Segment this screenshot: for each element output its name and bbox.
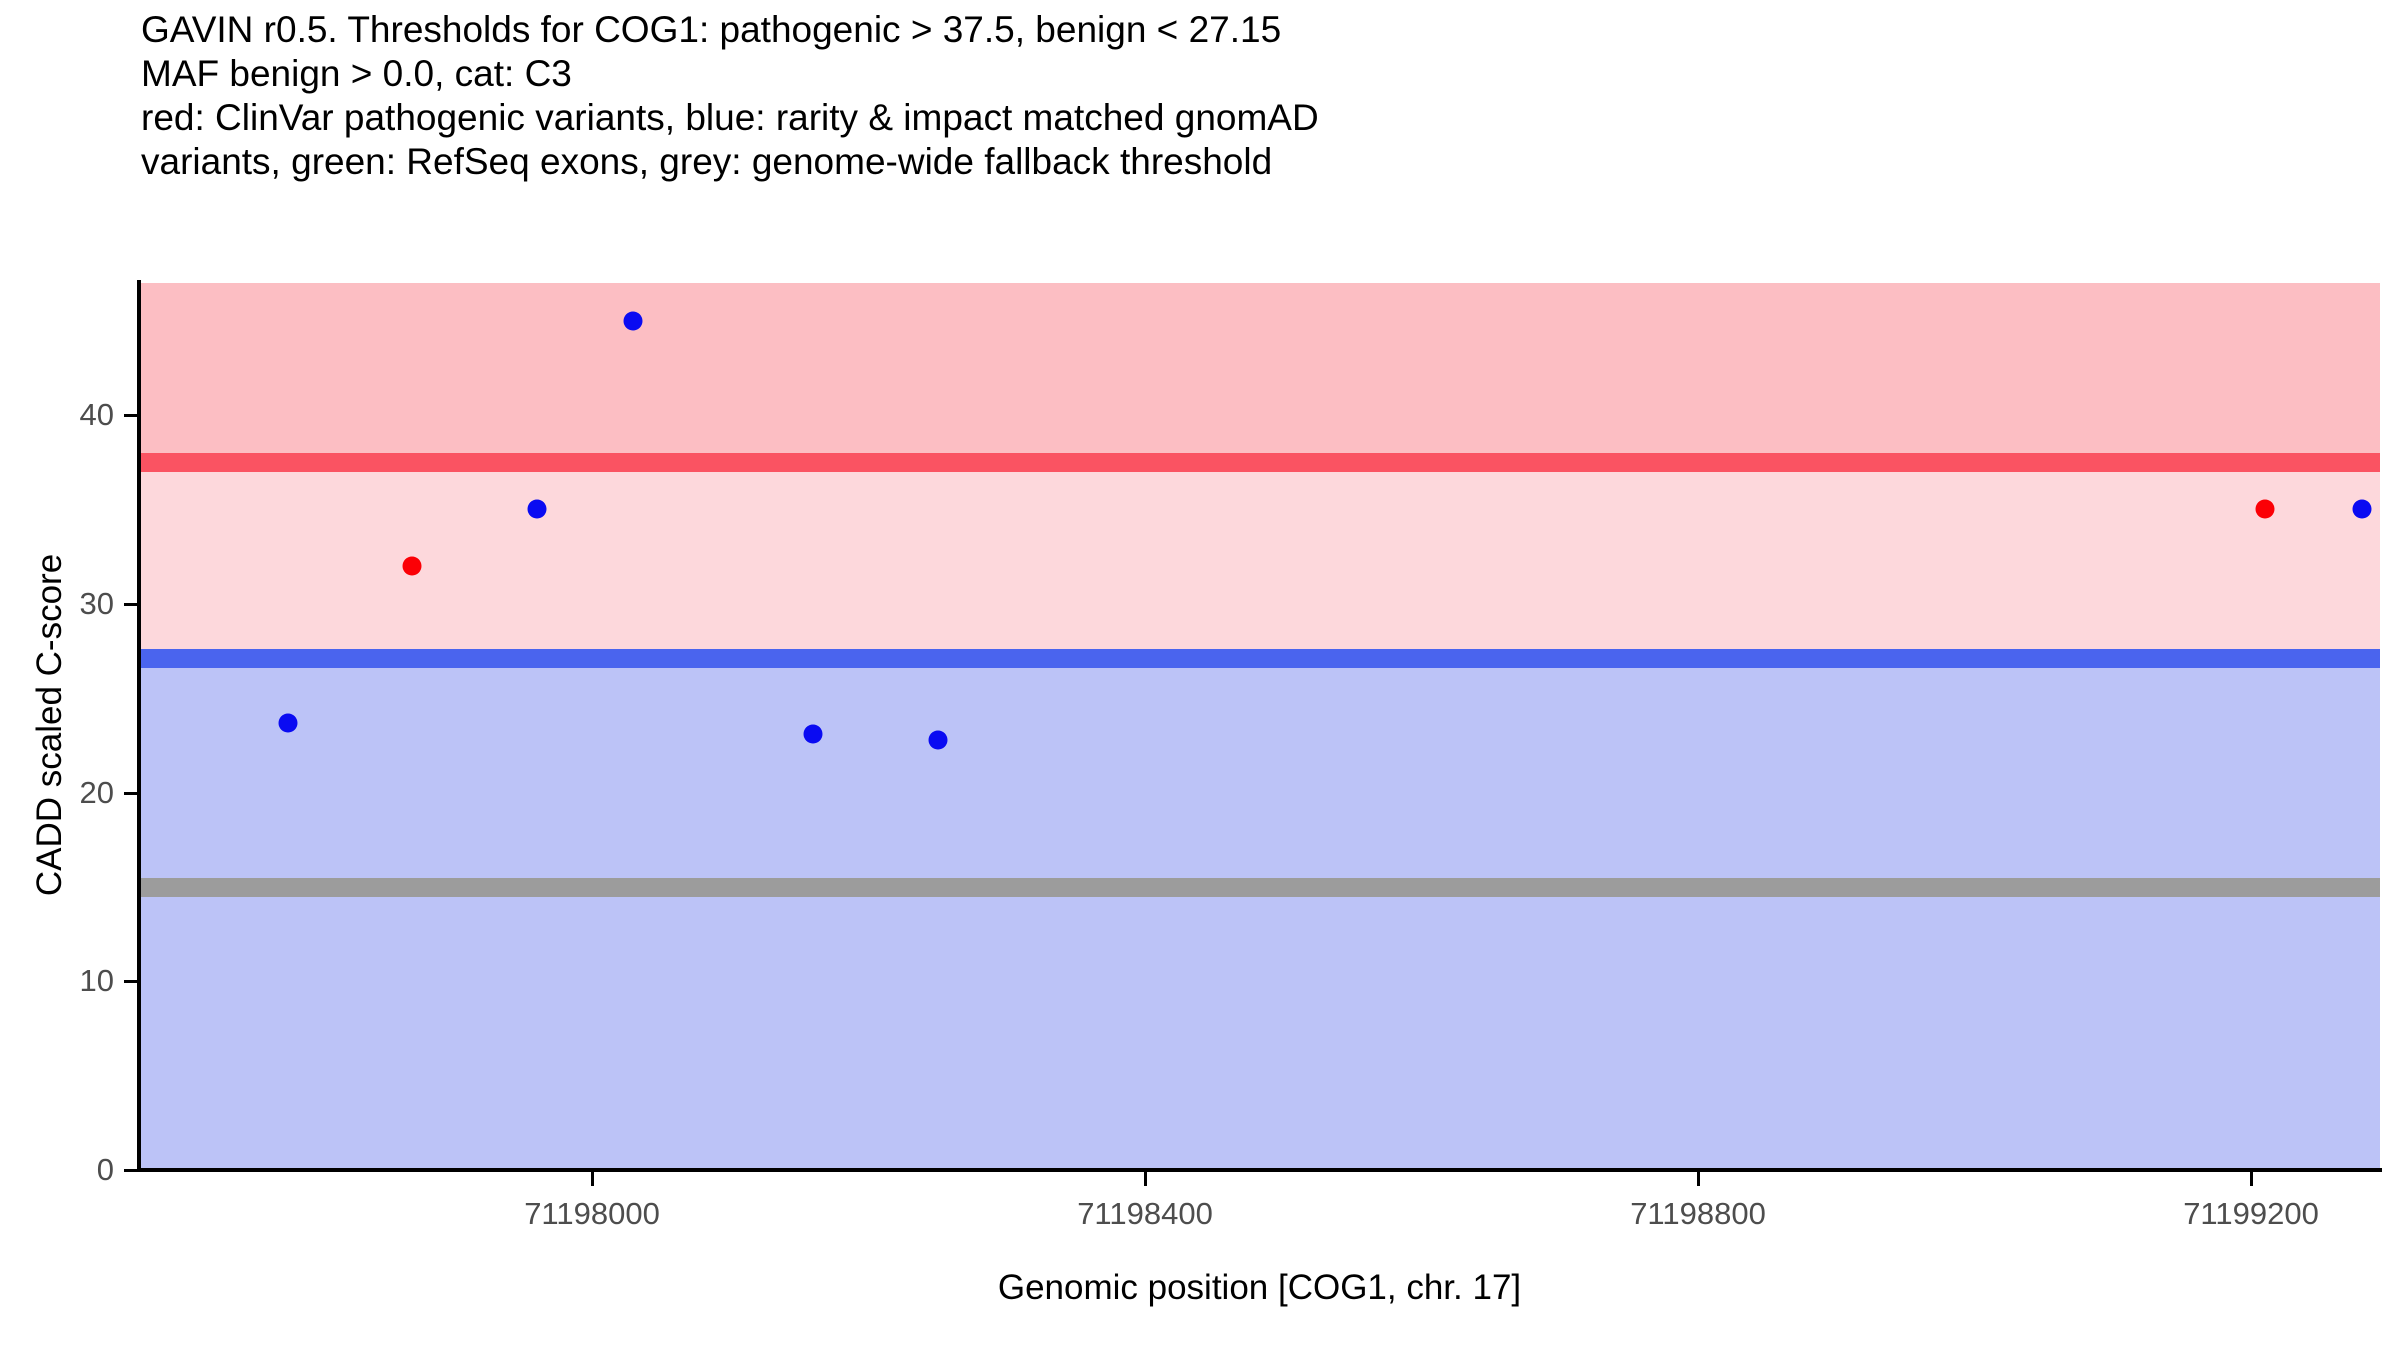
data-point: [2255, 500, 2274, 519]
x-axis-title: Genomic position [COG1, chr. 17]: [137, 1268, 2382, 1308]
data-point: [804, 724, 823, 743]
y-axis-tick: [124, 603, 138, 606]
title-line-1: GAVIN r0.5. Thresholds for COG1: pathoge…: [141, 8, 2341, 52]
benign-band: [140, 658, 2380, 1170]
y-axis-tick-label: 30: [80, 586, 114, 622]
benign-threshold-line: [140, 649, 2380, 668]
data-point: [403, 557, 422, 576]
pathogenic-threshold-line: [140, 453, 2380, 472]
data-point: [928, 730, 947, 749]
plot-panel: [140, 280, 2380, 1170]
y-axis-tick-label: 0: [97, 1152, 114, 1188]
genome-wide-fallback-line: [140, 878, 2380, 897]
x-axis-tick-label: 71198000: [524, 1196, 660, 1232]
chart-root: GAVIN r0.5. Thresholds for COG1: pathoge…: [0, 0, 2400, 1350]
data-point: [624, 311, 643, 330]
y-axis-tick: [124, 980, 138, 983]
chart-title-block: GAVIN r0.5. Thresholds for COG1: pathoge…: [141, 8, 2341, 184]
x-axis-tick: [591, 1172, 594, 1186]
y-axis-tick-label: 10: [80, 963, 114, 999]
x-axis-tick-label: 71198400: [1077, 1196, 1213, 1232]
vous-band: [140, 462, 2380, 657]
y-axis-title: CADD scaled C-score: [30, 280, 70, 1170]
x-axis-tick: [2250, 1172, 2253, 1186]
title-line-4: variants, green: RefSeq exons, grey: gen…: [141, 140, 2341, 184]
y-axis-tick-label: 40: [80, 397, 114, 433]
data-point: [2352, 500, 2371, 519]
y-axis-tick: [124, 414, 138, 417]
x-axis-tick-label: 71198800: [1630, 1196, 1766, 1232]
y-axis-tick: [124, 792, 138, 795]
title-line-3: red: ClinVar pathogenic variants, blue: …: [141, 96, 2341, 140]
x-axis-line: [137, 1168, 2382, 1172]
y-axis-tick: [124, 1169, 138, 1172]
y-axis-tick-label: 20: [80, 775, 114, 811]
x-axis-tick: [1697, 1172, 1700, 1186]
x-axis-tick: [1144, 1172, 1147, 1186]
title-line-2: MAF benign > 0.0, cat: C3: [141, 52, 2341, 96]
data-point: [278, 713, 297, 732]
data-point: [527, 500, 546, 519]
x-axis-tick-label: 71199200: [2183, 1196, 2319, 1232]
pathogenic-band: [140, 283, 2380, 462]
